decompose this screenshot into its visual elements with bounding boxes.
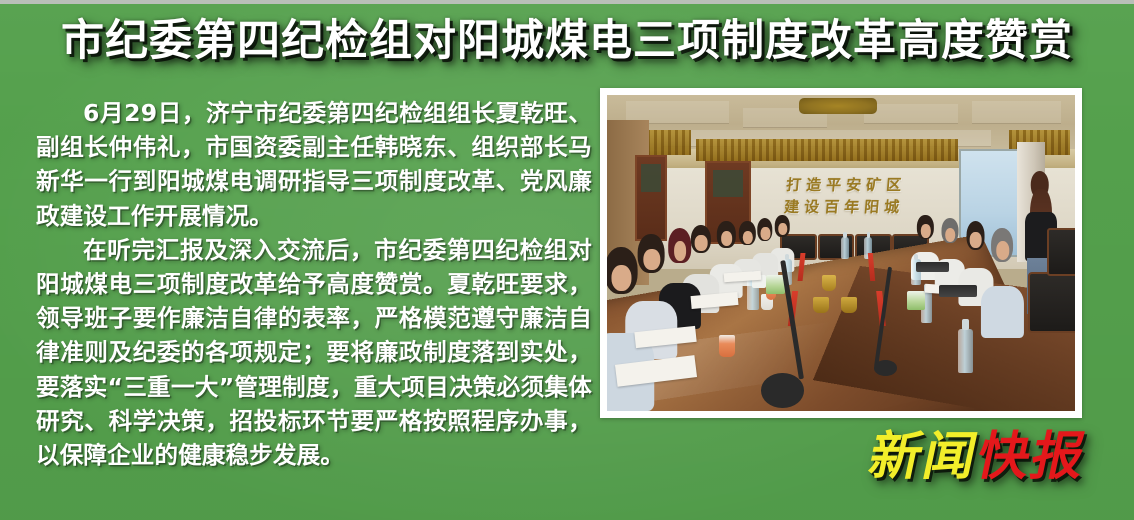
attendee-face [721,231,732,246]
attendee-face [743,231,753,244]
door-glass [641,164,661,192]
meeting-photo: 打造平安矿区 建设百年阳城 [607,95,1075,411]
attendee-head [607,247,637,294]
attendee-face [920,224,930,237]
page-title-container: 市纪委第四纪检组对阳城煤电三项制度改革高度赞赏 [0,14,1134,68]
news-poster: 市纪委第四纪检组对阳城煤电三项制度改革高度赞赏 6月29日，济宁市纪委第四纪检组… [0,0,1134,520]
article-paragraph-2: 在听完汇报及深入交流后，市纪委第四纪检组对阳城煤电三项制度改革给予高度赞赏。夏乾… [36,233,592,472]
paper-cup [719,335,735,357]
chair-right [1028,272,1075,333]
microphone-head [761,373,803,408]
attendee-head [941,218,958,243]
gold-band-center [696,139,958,161]
ceiling-panel [972,101,1061,124]
article-paragraph-1: 6月29日，济宁市纪委第四纪检组组长夏乾旺、副组长仲伟礼，市国资委副主任韩晓东、… [36,96,592,233]
wall-calligraphy-line-1: 打造平安矿区 [775,174,917,196]
attendee [981,228,1023,323]
attendee-face [612,265,632,291]
attendee-face [996,241,1010,260]
news-flash-logo: 新闻快报 [864,428,1092,486]
laptop [939,285,976,298]
tissue-box [907,291,926,310]
news-flash-red-text: 快报 [972,427,1093,487]
laptop [916,262,949,271]
chair-right [1047,228,1075,276]
attendee-body [981,286,1023,337]
attendee-head [917,215,933,239]
news-flash-yellow-text: 新闻 [864,427,985,487]
attendee-face [970,232,982,248]
ceiling-medallion [799,98,877,114]
table-ornament [822,275,836,291]
water-bottle [958,329,973,373]
attendee-head [991,228,1013,262]
article-body: 6月29日，济宁市纪委第四纪检组组长夏乾旺、副组长仲伟礼，市国资委副主任韩晓东、… [36,96,592,472]
table-ornament [813,297,829,313]
water-bottle [841,237,849,259]
attendee-face [778,223,787,235]
attendee-face [945,228,956,242]
page-title: 市纪委第四纪检组对阳城煤电三项制度改革高度赞赏 [61,14,1073,68]
top-strip [0,0,1134,4]
door-glass [713,170,743,197]
attendee-head [717,221,735,247]
table-ornament [841,297,857,313]
photo-frame: 打造平安矿区 建设百年阳城 [600,88,1082,418]
attendee-face [760,227,770,240]
wall-calligraphy-line-2: 建设百年阳城 [774,196,916,218]
wall-calligraphy: 打造平安矿区 建设百年阳城 [774,174,918,218]
ceiling-panel [864,104,958,124]
